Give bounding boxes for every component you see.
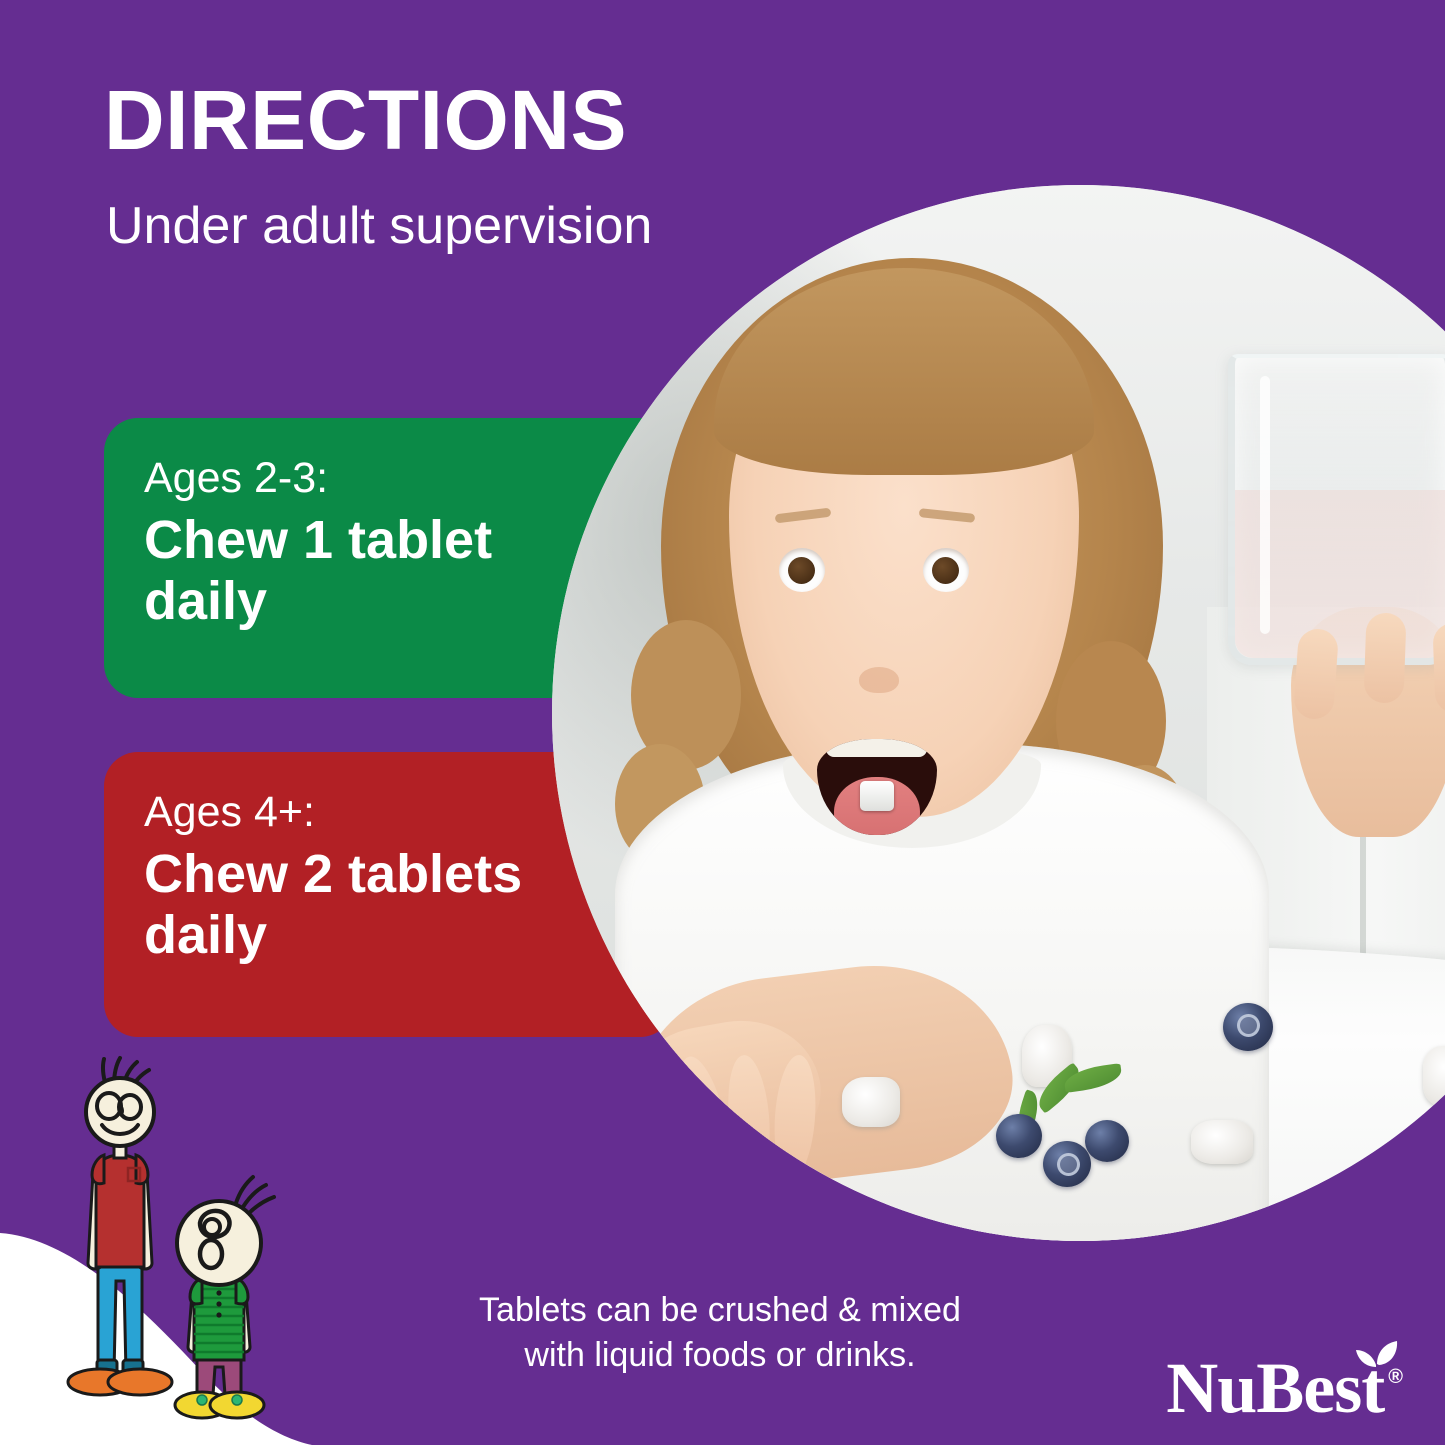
page-subtitle: Under adult supervision — [106, 198, 652, 255]
blueberry — [1043, 1141, 1091, 1187]
caption-text: Tablets can be crushed & mixed with liqu… — [430, 1288, 1010, 1378]
glass-highlight — [1260, 376, 1270, 634]
tall-child-mascot — [68, 1058, 172, 1395]
chewable-tablet-on-tongue — [860, 781, 894, 811]
animal-shaped-tablet — [842, 1077, 900, 1127]
shoe — [108, 1369, 172, 1395]
iris — [788, 557, 815, 584]
blueberry-crown — [1057, 1153, 1080, 1176]
shirt-button — [216, 1301, 221, 1306]
pants — [98, 1267, 142, 1373]
pants — [197, 1358, 241, 1395]
sleeve — [92, 1155, 104, 1184]
teeth — [826, 739, 927, 757]
photo-scene — [552, 185, 1445, 1241]
water-glass — [1228, 354, 1445, 665]
sleeve — [136, 1155, 148, 1184]
eye — [923, 548, 969, 592]
shoe-motif — [232, 1395, 242, 1405]
shirt-button — [216, 1290, 221, 1295]
shirt-button — [216, 1312, 221, 1317]
iris — [932, 557, 959, 584]
blueberry-crown — [1237, 1014, 1260, 1037]
brand-wordmark: NuBest — [1166, 1352, 1384, 1424]
animal-shaped-tablet — [1423, 1046, 1445, 1106]
open-mouth — [817, 739, 937, 835]
dosage-dose-label: Chew 1 tablet daily — [144, 510, 534, 631]
dosage-dose-label: Chew 2 tablets daily — [144, 844, 534, 965]
animal-shaped-tablet — [1191, 1120, 1253, 1164]
caption-line-2: with liquid foods or drinks. — [430, 1333, 1010, 1378]
blueberry — [1085, 1120, 1129, 1162]
finger — [1293, 627, 1339, 720]
shoe-motif — [197, 1395, 207, 1405]
finger — [1364, 612, 1407, 703]
directions-panel: DIRECTIONS Under adult supervision Ages … — [0, 0, 1445, 1445]
product-photo-circle — [552, 185, 1445, 1241]
short-child-mascot — [175, 1177, 274, 1418]
page-title: DIRECTIONS — [104, 78, 627, 162]
caption-line-1: Tablets can be crushed & mixed — [430, 1288, 1010, 1333]
blueberry — [1223, 1003, 1273, 1051]
brand-logo: NuBest ® — [1166, 1352, 1403, 1424]
eye — [779, 548, 825, 592]
blueberry — [996, 1114, 1042, 1158]
nose — [859, 667, 899, 693]
mascot-characters — [40, 1055, 330, 1445]
registered-trademark-symbol: ® — [1388, 1366, 1403, 1389]
